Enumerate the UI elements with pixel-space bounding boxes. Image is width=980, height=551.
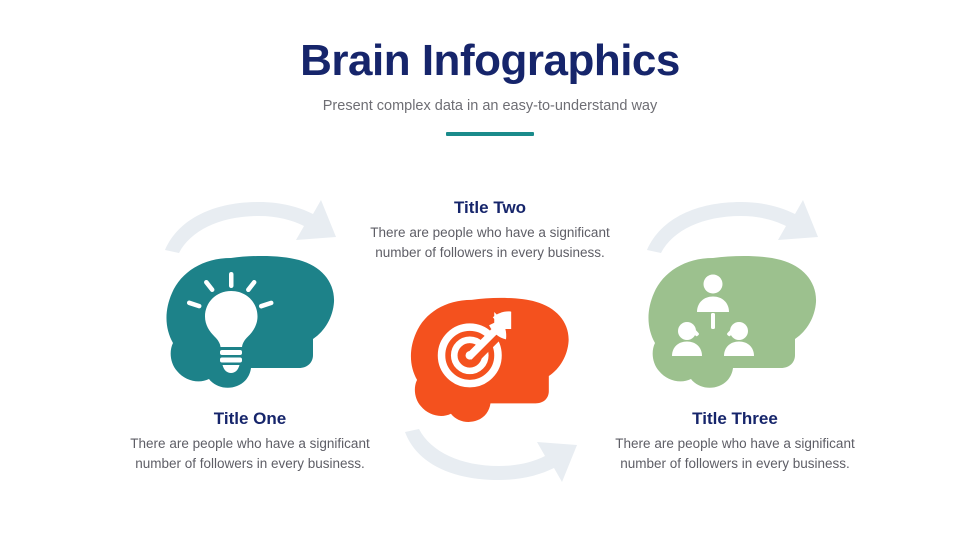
page-subtitle: Present complex data in an easy-to-under… xyxy=(0,98,980,115)
brain-node-two[interactable] xyxy=(405,297,575,425)
brain-shape xyxy=(648,256,816,388)
caption-three-body: There are people who have a significant … xyxy=(607,434,863,472)
brain-shape xyxy=(411,298,569,422)
infographic-slide: Brain Infographics Present complex data … xyxy=(0,0,980,551)
arrow-bottom-center xyxy=(403,428,581,486)
caption-two: Title Two There are people who have a si… xyxy=(362,198,618,262)
page-title: Brain Infographics xyxy=(0,38,980,84)
brain-node-three[interactable] xyxy=(645,255,820,391)
caption-one: Title One There are people who have a si… xyxy=(122,409,378,473)
caption-one-title: Title One xyxy=(122,409,378,429)
title-divider xyxy=(446,132,534,136)
caption-three: Title Three There are people who have a … xyxy=(607,409,863,473)
caption-two-title: Title Two xyxy=(362,198,618,218)
caption-three-title: Title Three xyxy=(607,409,863,429)
arrow-left-top xyxy=(163,196,338,254)
header: Brain Infographics Present complex data … xyxy=(0,38,980,136)
caption-two-body: There are people who have a significant … xyxy=(362,223,618,261)
arrow-right-top xyxy=(645,196,820,254)
brain-node-one[interactable] xyxy=(163,255,338,391)
caption-one-body: There are people who have a significant … xyxy=(122,434,378,472)
